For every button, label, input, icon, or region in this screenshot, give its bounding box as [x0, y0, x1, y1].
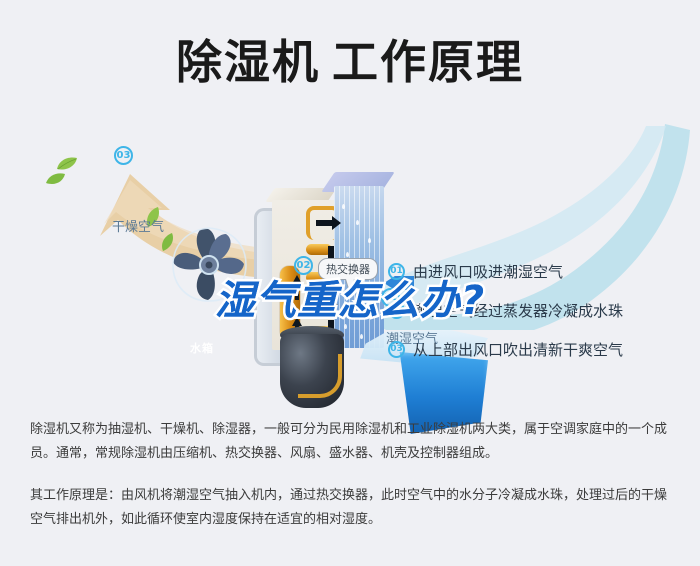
poster-root: 除湿机工作原理: [0, 0, 700, 566]
description-text: 除湿机又称为抽湿机、干燥机、除湿器，一般可分为民用除湿机和工业除湿机两大类，属于…: [30, 418, 676, 550]
list-item: 03 从上部出风口吹出清新干爽空气: [388, 340, 688, 358]
page-title-part2: 工作原理: [332, 35, 524, 89]
leaf-icon: [46, 172, 66, 187]
callout-label-dry-air: 干燥空气: [112, 216, 164, 235]
callout-badge-03: 03: [114, 146, 133, 165]
step-number-03: 03: [388, 341, 405, 358]
compressor-pipe: [298, 354, 342, 398]
step-text-03: 从上部出风口吹出清新干爽空气: [413, 339, 623, 360]
water-tank-label: 水箱: [172, 340, 232, 356]
page-title-part1: 除湿机: [176, 35, 320, 89]
page-title: 除湿机工作原理: [0, 26, 700, 92]
overlay-headline-stroke: 湿气重怎么办?: [0, 268, 700, 326]
paragraph-2: 其工作原理是：由风机将潮湿空气抽入机内，通过热交换器，此时空气中的水分子冷凝成水…: [30, 484, 676, 532]
leaf-icon: [56, 156, 78, 172]
paragraph-1: 除湿机又称为抽湿机、干燥机、除湿器，一般可分为民用除湿机和工业除湿机两大类，属于…: [30, 418, 676, 466]
